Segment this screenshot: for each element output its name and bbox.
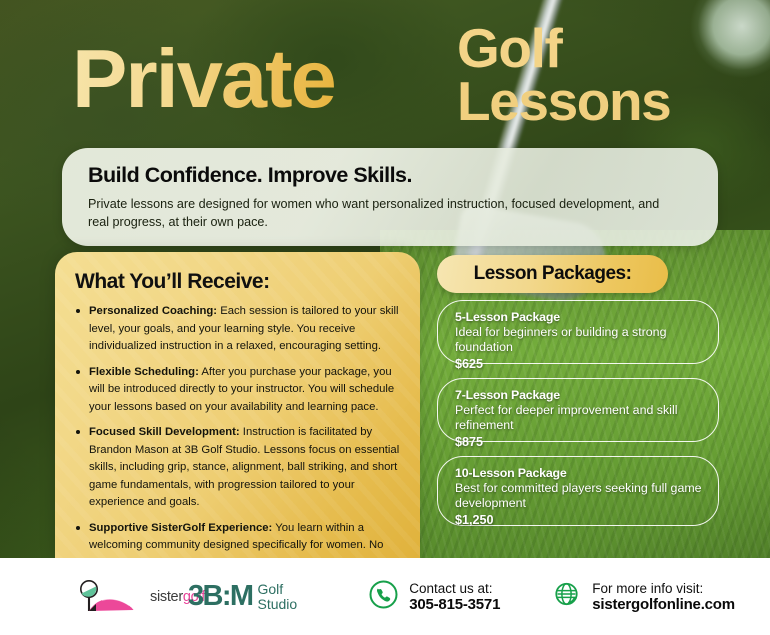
website-label: For more info visit: (592, 581, 735, 596)
receive-list-item: Supportive SisterGolf Experience: You le… (75, 520, 404, 559)
package-description: Ideal for beginners or building a strong… (455, 325, 703, 355)
package-title: 7-Lesson Package (455, 388, 703, 402)
lesson-packages-header: Lesson Packages: (437, 255, 668, 293)
website-block[interactable]: For more info visit: sistergolfonline.co… (552, 580, 735, 614)
package-price: $1,250 (455, 513, 703, 527)
package-card[interactable]: 7-Lesson Package Perfect for deeper impr… (437, 378, 719, 442)
receive-list-item: Focused Skill Development: Instruction i… (75, 424, 404, 512)
3bm-mark: 3B:M (188, 580, 253, 613)
package-title: 5-Lesson Package (455, 310, 703, 324)
package-description: Best for committed players seeking full … (455, 481, 703, 511)
contact-text: Contact us at: 305-815-3571 (409, 581, 500, 613)
globe-icon (552, 580, 581, 614)
3bm-golf-studio-logo: 3B:M Golf Studio (188, 580, 297, 613)
receive-item-label: Supportive SisterGolf Experience: (89, 522, 272, 534)
title-stack: Golf Lessons (457, 22, 670, 128)
receive-item-label: Flexible Scheduling: (89, 366, 199, 378)
package-description: Perfect for deeper improvement and skill… (455, 403, 703, 433)
3bm-sublabel: Golf Studio (258, 582, 298, 611)
website-text: For more info visit: sistergolfonline.co… (592, 581, 735, 613)
package-price: $625 (455, 357, 703, 371)
footer-bar: sistergolf 3B:M Golf Studio Contact us a… (0, 558, 770, 635)
page-title: Private Golf Lessons (72, 22, 740, 134)
phone-icon (369, 580, 398, 614)
package-title: 10-Lesson Package (455, 466, 703, 480)
receive-list-item: Personalized Coaching: Each session is t… (75, 303, 404, 356)
title-private: Private (72, 40, 335, 119)
receive-heading: What You’ll Receive: (75, 270, 404, 294)
website-url[interactable]: sistergolfonline.com (592, 596, 735, 613)
contact-label: Contact us at: (409, 581, 500, 596)
banner-body: Private lessons are designed for women w… (88, 195, 668, 232)
contact-block[interactable]: Contact us at: 305-815-3571 (369, 580, 500, 614)
receive-item-label: Personalized Coaching: (89, 305, 217, 317)
high-heel-golf-icon (72, 580, 150, 614)
studio-line-1: Golf (258, 582, 298, 596)
subtitle-banner: Build Confidence. Improve Skills. Privat… (62, 148, 718, 246)
banner-heading: Build Confidence. Improve Skills. (88, 163, 692, 188)
lesson-packages-label: Lesson Packages: (474, 263, 632, 285)
sistergolf-logo: sistergolf (72, 580, 156, 614)
package-price: $875 (455, 435, 703, 449)
receive-list: Personalized Coaching: Each session is t… (75, 303, 404, 558)
package-card[interactable]: 5-Lesson Package Ideal for beginners or … (437, 300, 719, 364)
receive-item-label: Focused Skill Development: (89, 426, 240, 438)
title-golf: Golf (457, 22, 670, 75)
title-lessons: Lessons (457, 75, 670, 128)
package-card[interactable]: 10-Lesson Package Best for committed pla… (437, 456, 719, 526)
receive-item-text: Instruction is facilitated by Brandon Ma… (89, 426, 399, 508)
what-youll-receive-panel: What You’ll Receive: Personalized Coachi… (55, 252, 420, 558)
receive-list-item: Flexible Scheduling: After you purchase … (75, 364, 404, 417)
wordmark-sister: sister (150, 589, 183, 605)
studio-line-2: Studio (258, 597, 298, 611)
contact-phone[interactable]: 305-815-3571 (409, 596, 500, 613)
